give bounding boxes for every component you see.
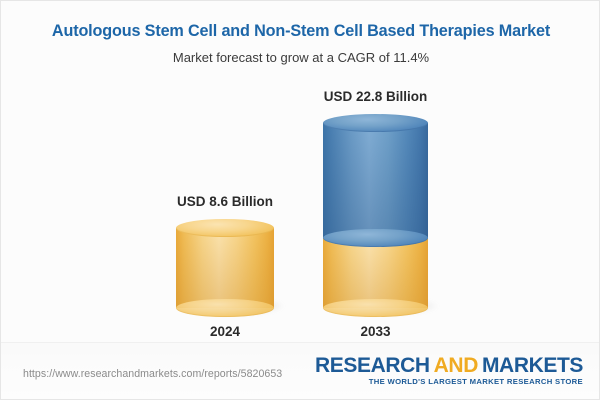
page-title: Autologous Stem Cell and Non-Stem Cell B… <box>1 1 600 41</box>
market-forecast-infographic-card: Autologous Stem Cell and Non-Stem Cell B… <box>0 0 600 400</box>
segment-top-ellipse <box>323 114 428 132</box>
cylinder-bar-2033 <box>323 123 428 308</box>
bar-chart-plot-area: USD 8.6 Billion 2024 USD 22.8 Billion <box>1 86 600 341</box>
research-and-markets-logo[interactable]: RESEARCHANDMARKETS THE WORLD'S LARGEST M… <box>315 355 583 387</box>
segment-bottom-ellipse <box>323 229 428 247</box>
footer-bar: https://www.researchandmarkets.com/repor… <box>1 342 600 399</box>
segment-bottom-shading <box>176 228 274 308</box>
cylinder-bar-2024 <box>176 228 274 308</box>
bar-segment-2033-base <box>323 238 428 308</box>
logo-tagline: THE WORLD'S LARGEST MARKET RESEARCH STOR… <box>315 377 583 387</box>
chart-header: Autologous Stem Cell and Non-Stem Cell B… <box>1 1 600 66</box>
logo-wordmark: RESEARCHANDMARKETS <box>315 355 583 377</box>
bar-segment-2033-growth <box>323 123 428 238</box>
bar-value-label-2024: USD 8.6 Billion <box>177 194 273 209</box>
segment-bottom-shading <box>323 238 428 308</box>
bar-segment-2024-base <box>176 228 274 308</box>
logo-word-and: AND <box>434 354 478 377</box>
bar-category-label-2033: 2033 <box>360 324 390 339</box>
bar-value-label-2033: USD 22.8 Billion <box>324 89 428 104</box>
logo-word-markets: MARKETS <box>482 354 583 377</box>
chart-subtitle: Market forecast to grow at a CAGR of 11.… <box>1 41 600 66</box>
logo-word-research: RESEARCH <box>315 354 430 377</box>
bar-category-label-2024: 2024 <box>210 324 240 339</box>
segment-bottom-shading <box>323 123 428 238</box>
report-url-link[interactable]: https://www.researchandmarkets.com/repor… <box>23 368 282 380</box>
segment-bottom-ellipse <box>176 299 274 317</box>
segment-top-ellipse <box>176 219 274 237</box>
bar-group-2024: USD 8.6 Billion 2024 <box>176 86 274 341</box>
bar-group-2033: USD 22.8 Billion 2033 <box>323 86 428 341</box>
segment-bottom-ellipse <box>323 299 428 317</box>
